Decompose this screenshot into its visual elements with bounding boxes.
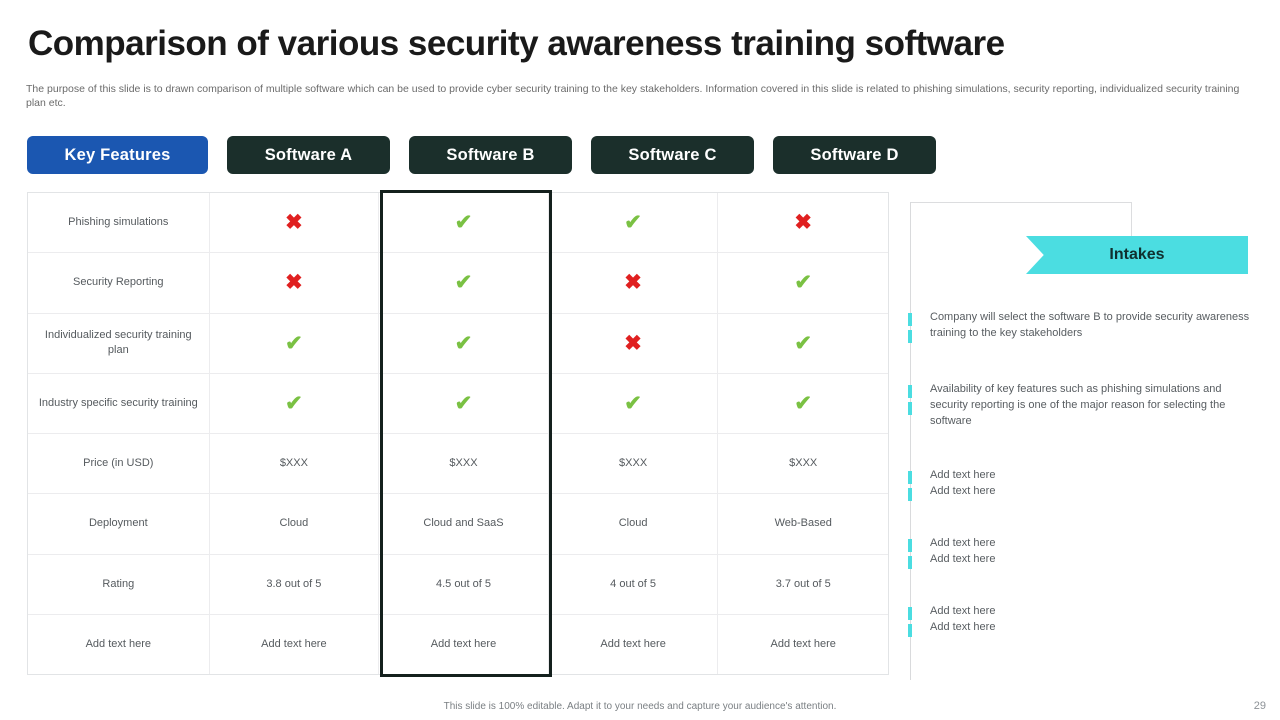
value-cell: ✖ bbox=[210, 193, 380, 252]
value-cell: $XXX bbox=[210, 434, 380, 493]
value-cell: ✔ bbox=[379, 193, 549, 252]
tab-label: Software A bbox=[265, 146, 353, 165]
feature-name-cell: Deployment bbox=[28, 494, 210, 553]
intake-item-text: Add text here Add text here bbox=[930, 603, 1252, 635]
check-icon: ✔ bbox=[455, 333, 473, 354]
feature-label: Industry specific security training bbox=[39, 396, 198, 411]
cell-text: $XXX bbox=[619, 456, 647, 471]
value-cell: ✔ bbox=[379, 374, 549, 433]
value-cell: Cloud bbox=[549, 494, 719, 553]
cross-icon: ✖ bbox=[624, 333, 642, 354]
editable-note: This slide is 100% editable. Adapt it to… bbox=[0, 701, 1280, 712]
tab-label: Software D bbox=[810, 146, 898, 165]
tab-key-features[interactable]: Key Features bbox=[27, 136, 208, 174]
cell-text: Add text here bbox=[431, 637, 496, 652]
table-row: Security Reporting✖✔✖✔ bbox=[28, 253, 888, 313]
value-cell: ✔ bbox=[718, 374, 888, 433]
intake-item: Add text here Add text here bbox=[896, 535, 1252, 567]
value-cell: Add text here bbox=[718, 615, 888, 674]
cell-text: Add text here bbox=[600, 637, 665, 652]
check-icon: ✔ bbox=[455, 393, 473, 414]
check-icon: ✔ bbox=[455, 272, 473, 293]
value-cell: Cloud and SaaS bbox=[379, 494, 549, 553]
value-cell: ✖ bbox=[210, 253, 380, 312]
feature-label: Rating bbox=[102, 577, 134, 592]
tick-marker-icon bbox=[908, 471, 913, 505]
check-icon: ✔ bbox=[285, 393, 303, 414]
table-row: Price (in USD)$XXX$XXX$XXX$XXX bbox=[28, 434, 888, 494]
cell-text: $XXX bbox=[789, 456, 817, 471]
table-row: DeploymentCloudCloud and SaaSCloudWeb-Ba… bbox=[28, 494, 888, 554]
intakes-ribbon: Intakes bbox=[1026, 236, 1248, 274]
cross-icon: ✖ bbox=[624, 272, 642, 293]
cross-icon: ✖ bbox=[285, 272, 303, 293]
value-cell: 3.8 out of 5 bbox=[210, 555, 380, 614]
cell-text: Cloud and SaaS bbox=[423, 516, 503, 531]
tab-software-b[interactable]: Software B bbox=[409, 136, 572, 174]
cell-text: Add text here bbox=[770, 637, 835, 652]
table-row: Individualized security training plan✔✔✖… bbox=[28, 314, 888, 374]
cell-text: Cloud bbox=[619, 516, 648, 531]
tick-marker-icon bbox=[908, 313, 913, 347]
cell-text: 3.8 out of 5 bbox=[266, 577, 321, 592]
cross-icon: ✖ bbox=[794, 212, 812, 233]
value-cell: ✖ bbox=[549, 253, 719, 312]
table-row: Phishing simulations✖✔✔✖ bbox=[28, 193, 888, 253]
value-cell: 4 out of 5 bbox=[549, 555, 719, 614]
feature-name-cell: Rating bbox=[28, 555, 210, 614]
tick-marker-icon bbox=[908, 607, 913, 641]
check-icon: ✔ bbox=[794, 272, 812, 293]
check-icon: ✔ bbox=[624, 212, 642, 233]
value-cell: ✔ bbox=[718, 253, 888, 312]
slide-subtitle: The purpose of this slide is to drawn co… bbox=[26, 82, 1254, 110]
value-cell: Add text here bbox=[379, 615, 549, 674]
check-icon: ✔ bbox=[794, 333, 812, 354]
intake-item: Availability of key features such as phi… bbox=[896, 381, 1252, 429]
feature-name-cell: Phishing simulations bbox=[28, 193, 210, 252]
value-cell: ✔ bbox=[718, 314, 888, 373]
value-cell: Add text here bbox=[210, 615, 380, 674]
page-title: Comparison of various security awareness… bbox=[28, 24, 1005, 64]
cell-text: $XXX bbox=[449, 456, 477, 471]
value-cell: ✖ bbox=[718, 193, 888, 252]
tick-marker-icon bbox=[908, 385, 913, 419]
feature-name-cell: Individualized security training plan bbox=[28, 314, 210, 373]
page-number: 29 bbox=[1254, 700, 1266, 712]
feature-label: Phishing simulations bbox=[68, 215, 168, 230]
intake-item: Add text here Add text here bbox=[896, 467, 1252, 499]
check-icon: ✔ bbox=[455, 212, 473, 233]
value-cell: $XXX bbox=[549, 434, 719, 493]
table-row: Rating3.8 out of 54.5 out of 54 out of 5… bbox=[28, 555, 888, 615]
value-cell: Cloud bbox=[210, 494, 380, 553]
feature-label: Security Reporting bbox=[73, 275, 164, 290]
table-row: Industry specific security training✔✔✔✔ bbox=[28, 374, 888, 434]
value-cell: ✔ bbox=[549, 374, 719, 433]
cell-text: $XXX bbox=[280, 456, 308, 471]
value-cell: 4.5 out of 5 bbox=[379, 555, 549, 614]
value-cell: ✔ bbox=[379, 253, 549, 312]
intakes-ribbon-label: Intakes bbox=[1109, 246, 1164, 264]
value-cell: ✔ bbox=[549, 193, 719, 252]
table-row: Add text hereAdd text hereAdd text hereA… bbox=[28, 615, 888, 674]
intake-item-text: Add text here Add text here bbox=[930, 467, 1252, 499]
feature-name-cell: Industry specific security training bbox=[28, 374, 210, 433]
cell-text: Add text here bbox=[261, 637, 326, 652]
check-icon: ✔ bbox=[624, 393, 642, 414]
value-cell: ✔ bbox=[210, 314, 380, 373]
feature-label: Price (in USD) bbox=[83, 456, 153, 471]
check-icon: ✔ bbox=[285, 333, 303, 354]
intake-item-text: Company will select the software B to pr… bbox=[930, 309, 1252, 341]
intake-item: Company will select the software B to pr… bbox=[896, 309, 1252, 341]
cross-icon: ✖ bbox=[285, 212, 303, 233]
intake-item-text: Availability of key features such as phi… bbox=[930, 381, 1252, 429]
value-cell: $XXX bbox=[718, 434, 888, 493]
cell-text: 4 out of 5 bbox=[610, 577, 656, 592]
value-cell: Web-Based bbox=[718, 494, 888, 553]
tab-label: Key Features bbox=[64, 146, 170, 165]
cell-text: 3.7 out of 5 bbox=[776, 577, 831, 592]
value-cell: Add text here bbox=[549, 615, 719, 674]
feature-name-cell: Security Reporting bbox=[28, 253, 210, 312]
tab-label: Software C bbox=[628, 146, 716, 165]
feature-label: Add text here bbox=[86, 637, 151, 652]
tick-marker-icon bbox=[908, 539, 913, 573]
comparison-table: Phishing simulations✖✔✔✖Security Reporti… bbox=[27, 192, 889, 675]
column-header-tabs: Key FeaturesSoftware ASoftware BSoftware… bbox=[27, 136, 936, 174]
intakes-panel: Intakes Company will select the software… bbox=[896, 196, 1266, 680]
intake-item-text: Add text here Add text here bbox=[930, 535, 1252, 567]
value-cell: ✔ bbox=[379, 314, 549, 373]
intake-item: Add text here Add text here bbox=[896, 603, 1252, 635]
value-cell: 3.7 out of 5 bbox=[718, 555, 888, 614]
tab-software-d[interactable]: Software D bbox=[773, 136, 936, 174]
check-icon: ✔ bbox=[794, 393, 812, 414]
tab-software-c[interactable]: Software C bbox=[591, 136, 754, 174]
value-cell: ✔ bbox=[210, 374, 380, 433]
value-cell: ✖ bbox=[549, 314, 719, 373]
cell-text: 4.5 out of 5 bbox=[436, 577, 491, 592]
feature-label: Individualized security training plan bbox=[36, 328, 201, 358]
feature-label: Deployment bbox=[89, 516, 148, 531]
feature-name-cell: Price (in USD) bbox=[28, 434, 210, 493]
feature-name-cell: Add text here bbox=[28, 615, 210, 674]
value-cell: $XXX bbox=[379, 434, 549, 493]
cell-text: Web-Based bbox=[775, 516, 832, 531]
tab-label: Software B bbox=[446, 146, 534, 165]
cell-text: Cloud bbox=[280, 516, 309, 531]
tab-software-a[interactable]: Software A bbox=[227, 136, 390, 174]
